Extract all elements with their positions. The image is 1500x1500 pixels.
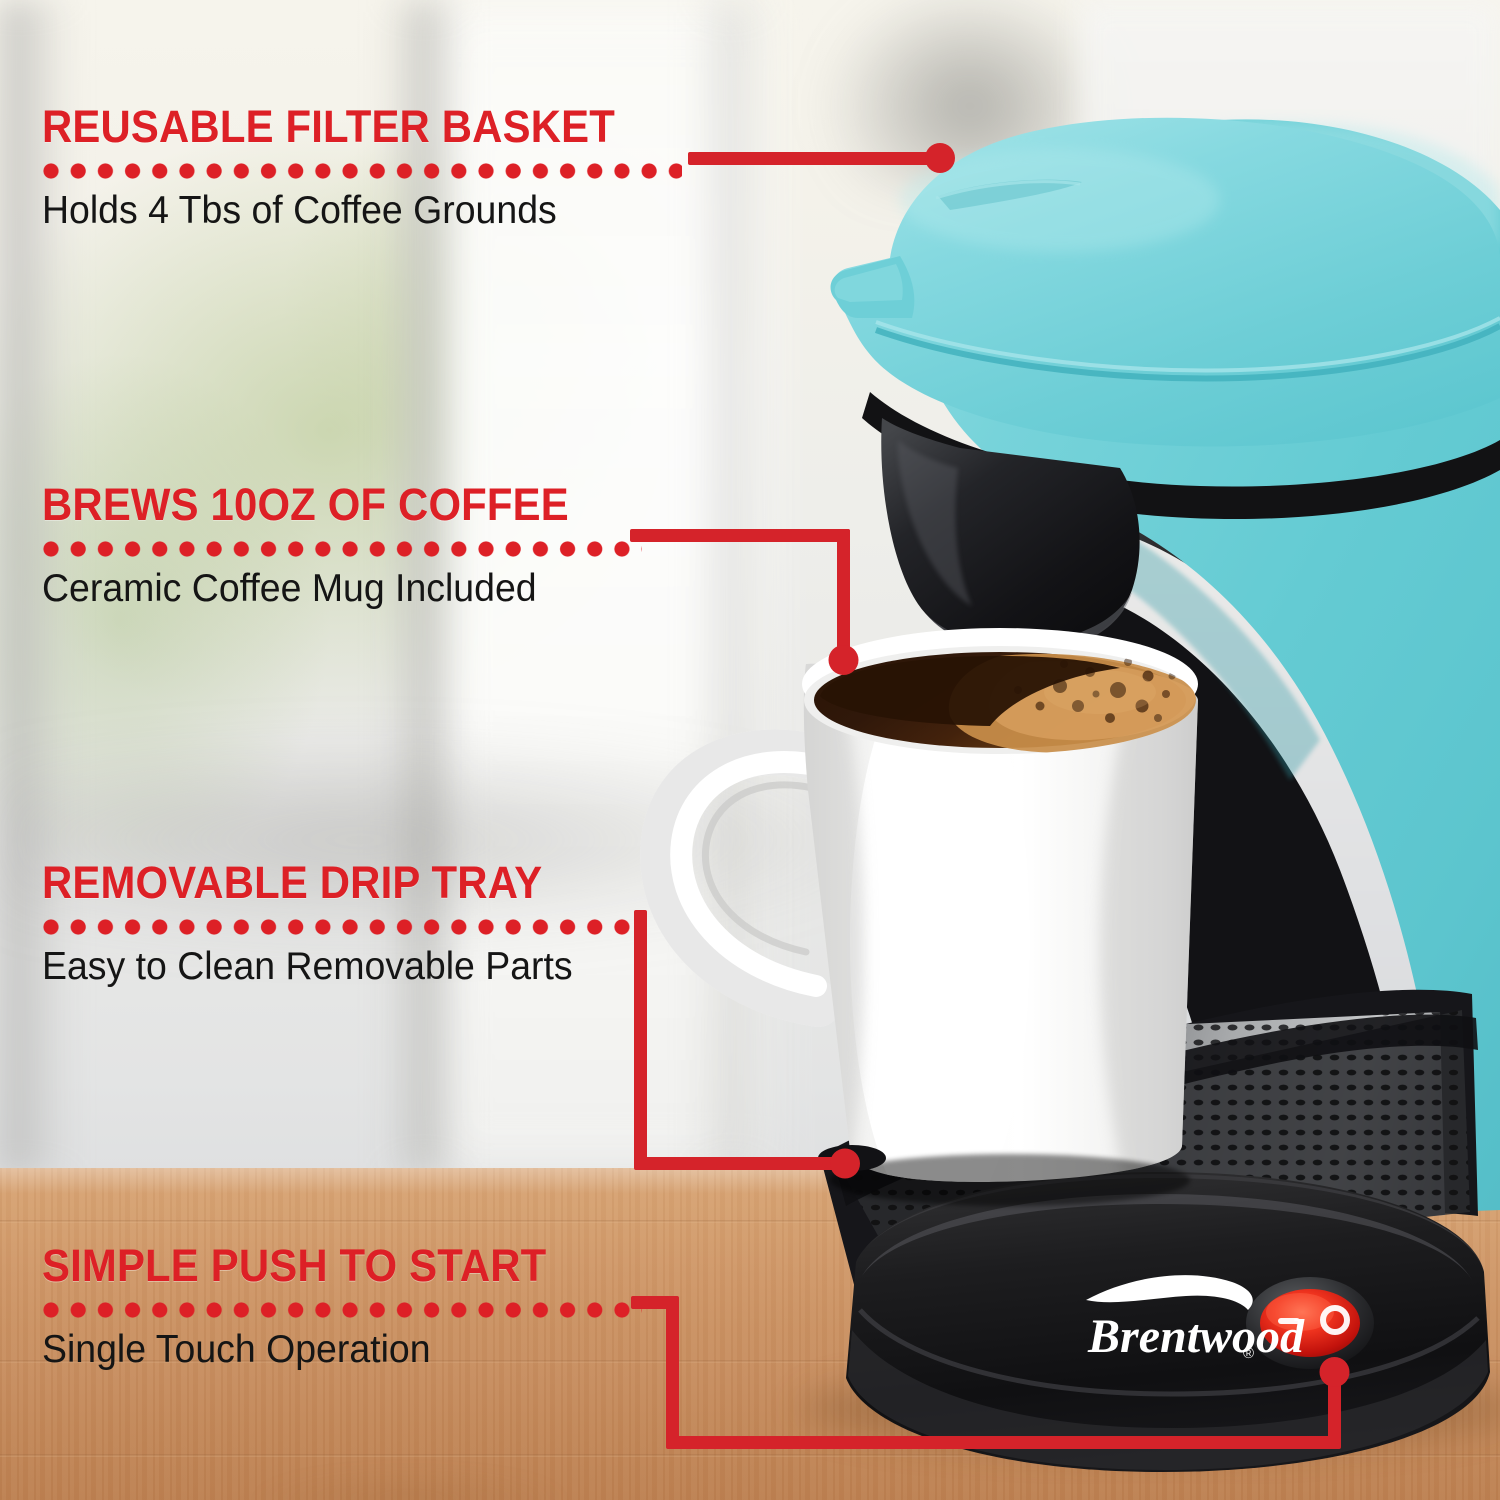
- callout-subtitle: Easy to Clean Removable Parts: [42, 947, 618, 988]
- leader-line-3b: [634, 1157, 846, 1170]
- callout-title: BREWS 10OZ OF COFFEE: [42, 482, 600, 527]
- product-infographic: Brentwood ® REUSABLE FILTER BASKET: [0, 0, 1500, 1500]
- callout-divider-dots: [42, 918, 642, 936]
- leader-endpoint-2: [829, 645, 859, 675]
- callout-title: REMOVABLE DRIP TRAY: [42, 860, 600, 905]
- callout-subtitle: Ceramic Coffee Mug Included: [42, 569, 618, 610]
- callout-brews-10oz: BREWS 10OZ OF COFFEE Ceramic Coffee Mug …: [42, 482, 642, 610]
- registered-mark: ®: [1243, 1345, 1254, 1362]
- brentwood-wordmark: Brentwood: [1087, 1310, 1305, 1363]
- leader-line-4c: [666, 1436, 1341, 1449]
- leader-endpoint-3: [830, 1149, 860, 1179]
- callout-title: REUSABLE FILTER BASKET: [42, 104, 637, 149]
- callout-reusable-filter-basket: REUSABLE FILTER BASKET Holds 4 Tbs of Co…: [42, 104, 682, 232]
- callout-removable-drip-tray: REMOVABLE DRIP TRAY Easy to Clean Remova…: [42, 860, 642, 988]
- callout-divider-dots: [42, 162, 682, 180]
- callout-simple-push-to-start: SIMPLE PUSH TO START Single Touch Operat…: [42, 1243, 642, 1371]
- leader-endpoint-1: [925, 143, 955, 173]
- leader-line-4b: [666, 1296, 679, 1448]
- callout-subtitle: Single Touch Operation: [42, 1330, 618, 1371]
- leader-endpoint-4: [1320, 1357, 1350, 1387]
- leader-line-1: [688, 152, 940, 165]
- callout-subtitle: Holds 4 Tbs of Coffee Grounds: [42, 191, 656, 232]
- leader-line-2a: [630, 529, 850, 542]
- callout-divider-dots: [42, 540, 642, 558]
- callout-divider-dots: [42, 1301, 642, 1319]
- callout-title: SIMPLE PUSH TO START: [42, 1243, 600, 1288]
- leader-line-2b: [837, 529, 850, 657]
